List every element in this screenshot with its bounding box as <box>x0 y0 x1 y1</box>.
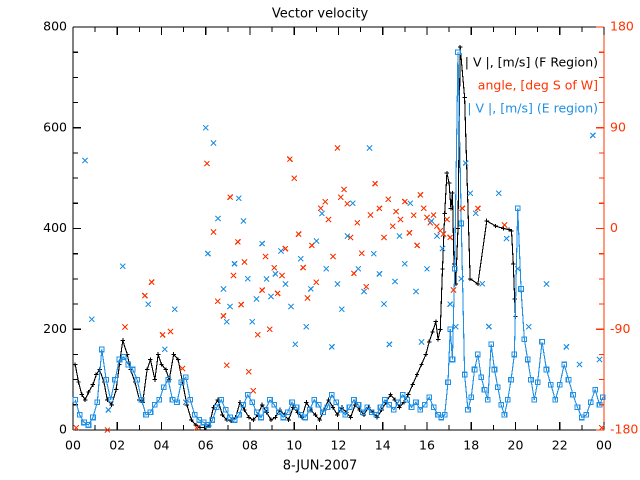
bottom-axis-tick-label: 06 <box>198 438 214 453</box>
legend-entry-2: | V |, [m/s] (E region) <box>467 101 598 116</box>
bottom-axis-tick-label: 16 <box>419 438 435 453</box>
bottom-axis-tick-label: 14 <box>375 438 391 453</box>
left-axis-tick-label: 400 <box>43 220 67 235</box>
legend-entry-1: angle, [deg S of W] <box>478 78 598 93</box>
legend-group: | V |, [m/s] (F Region)angle, [deg S of … <box>465 55 598 116</box>
bottom-axis-tick-label: 08 <box>242 438 258 453</box>
right-axis-tick-label: -90 <box>610 321 630 336</box>
legend-entry-0: | V |, [m/s] (F Region) <box>465 55 598 70</box>
bottom-axis-tick-label: 10 <box>286 438 302 453</box>
bottom-axis-tick-label: 00 <box>65 438 81 453</box>
right-axis-tick-label: 0 <box>610 220 618 235</box>
bottom-axis-tick-label: 02 <box>109 438 125 453</box>
left-axis-tick-label: 600 <box>43 119 67 134</box>
right-axis-tick-label: 180 <box>610 19 634 34</box>
bottom-axis-tick-label: 22 <box>552 438 568 453</box>
bottom-axis-tick-label: 00 <box>596 438 612 453</box>
bottom-axis-tick-label: 20 <box>508 438 524 453</box>
bottom-axis-tick-label: 12 <box>331 438 347 453</box>
left-axis-tick-label: 800 <box>43 19 67 34</box>
x-axis-title: 8-JUN-2007 <box>283 459 358 474</box>
bottom-axis-tick-label: 04 <box>154 438 170 453</box>
left-axis-tick-label: 0 <box>59 422 67 437</box>
chart-svg: Vector velocity 0200400600800-180-900901… <box>0 0 640 480</box>
chart-title: Vector velocity <box>272 7 369 22</box>
right-axis-tick-label: -180 <box>610 422 638 437</box>
bottom-axis-tick-label: 18 <box>463 438 479 453</box>
vector-velocity-plot: Vector velocity 0200400600800-180-900901… <box>0 0 640 480</box>
left-axis-tick-label: 200 <box>43 321 67 336</box>
right-axis-tick-label: 90 <box>610 119 626 134</box>
